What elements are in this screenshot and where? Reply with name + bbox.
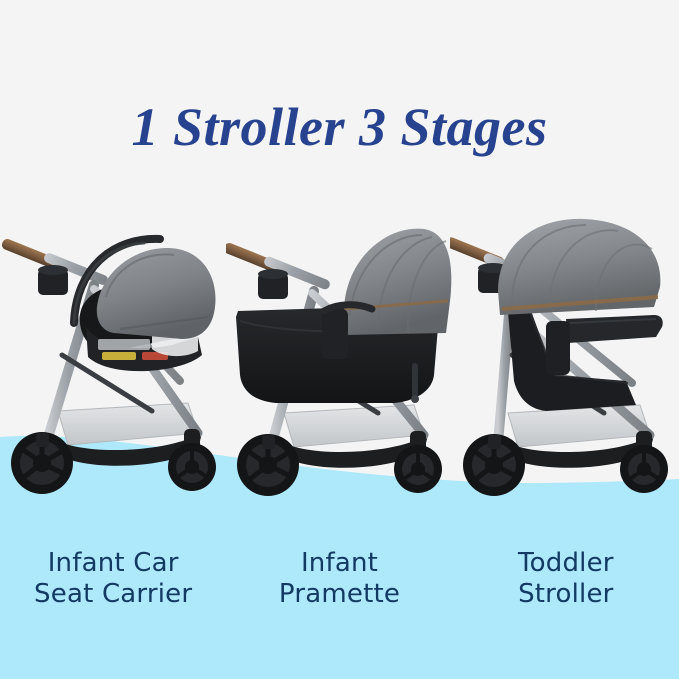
- caption-infant-pramette: Infant Pramette: [226, 548, 452, 638]
- front-wheel: [394, 431, 442, 493]
- cup-holder: [38, 265, 68, 295]
- product-toddler-stroller: [450, 205, 676, 515]
- caption-line-1: Infant: [301, 548, 378, 578]
- rear-wheel: [11, 432, 73, 494]
- caption-toddler-stroller: Toddler Stroller: [453, 548, 679, 638]
- car-seat-canopy: [97, 248, 216, 339]
- product-row: [0, 205, 679, 515]
- front-wheel: [168, 429, 216, 491]
- bassinet-canopy: [344, 229, 451, 335]
- page-title: 1 Stroller 3 Stages: [0, 96, 679, 158]
- child-tray: [546, 315, 663, 375]
- seat-canopy: [498, 219, 660, 315]
- caption-row: Infant Car Seat Carrier Infant Pramette …: [0, 548, 679, 638]
- caption-line-2: Pramette: [226, 579, 452, 610]
- caption-line-1: Toddler: [518, 548, 614, 578]
- cup-holder: [258, 269, 288, 299]
- caption-infant-car-seat-carrier: Infant Car Seat Carrier: [0, 548, 226, 638]
- promo-image: 1 Stroller 3 Stages: [0, 0, 679, 679]
- rear-wheel: [463, 434, 525, 496]
- rear-wheel: [237, 434, 299, 496]
- front-wheel: [620, 431, 668, 493]
- caption-line-2: Seat Carrier: [0, 579, 226, 610]
- caption-line-1: Infant Car: [48, 548, 179, 578]
- product-infant-pramette: [226, 205, 452, 515]
- caption-line-2: Stroller: [453, 579, 679, 610]
- product-infant-car-seat-carrier: [2, 205, 228, 515]
